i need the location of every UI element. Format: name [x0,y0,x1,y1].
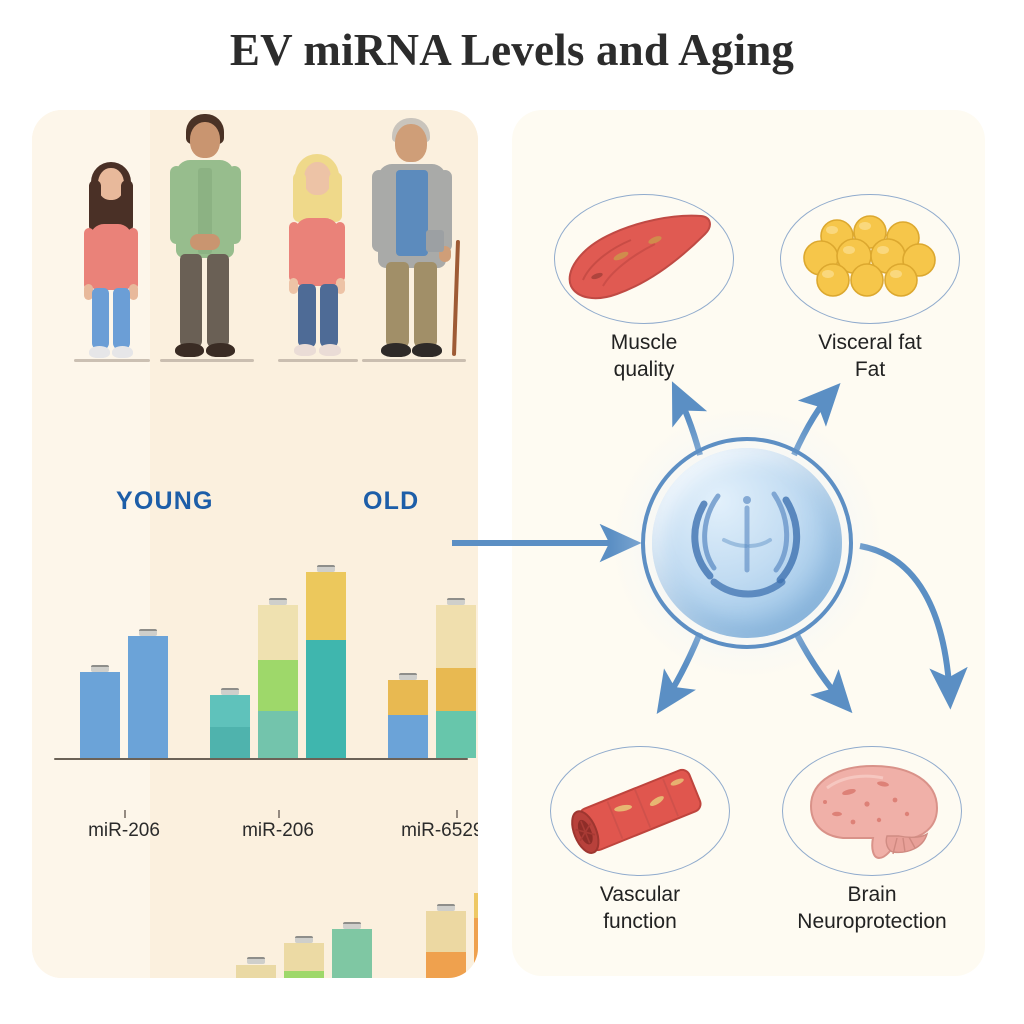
ground-line-1 [74,359,150,362]
bar-segment [258,660,298,711]
ground-line-2 [160,359,254,362]
fat-label-line2: Fat [770,357,970,384]
page-title: EV miRNA Levels and Aging [0,24,1024,76]
walking-cane-icon [452,240,460,356]
bar [284,943,324,978]
legs-right [320,284,338,348]
legs-left [180,254,202,348]
category-label: miR-206 [242,820,314,842]
infographic-canvas: EV miRNA Levels and Aging [0,0,1024,1024]
legs-left [386,262,409,348]
age-label-young: YOUNG [116,487,214,516]
vascular-label-line2: function [540,909,740,936]
bar [306,572,346,758]
shoe-right [112,346,133,358]
people-illustration-group [32,110,478,378]
error-bar-cap [139,629,157,636]
shoe-left [175,343,204,357]
bar [128,636,168,758]
axis-tick [456,810,458,818]
bar-segment [306,640,346,758]
hair-right [329,172,342,222]
shoe-right [206,343,235,357]
shoe-right [412,343,442,357]
ground-line-4 [362,359,466,362]
hand-left [289,278,298,294]
error-bar-cap [269,598,287,605]
muscle-label-line2: quality [544,357,744,384]
torso-top [295,218,339,286]
person-young-woman [74,140,148,360]
bar-segment [284,943,324,971]
head [304,162,331,195]
bar [80,672,120,758]
pocket [426,230,444,252]
bar [258,605,298,758]
bar-segment [436,605,476,668]
bar [388,680,428,758]
arm-right [128,228,138,290]
bar-segment [128,636,168,758]
vascular-label: Vascular function [540,882,740,936]
bar-segment [284,971,324,978]
error-bar-cap [247,957,265,964]
arm-right [335,222,345,282]
chart-lower-stacked-bar [46,870,476,978]
shoe-left [381,343,411,357]
ground-line-3 [278,359,358,362]
chart-upper-stacked-bar: miR-206miR-206miR-6529-5p [46,562,476,808]
person-old-woman [280,136,356,360]
error-bar-cap [221,688,239,695]
chart-bars-area-lower [46,874,476,978]
person-old-man [366,112,462,360]
category-label: miR-6529-5p [401,820,478,842]
bar-segment [210,695,250,726]
blood-vessel-icon [555,758,725,862]
bar [210,695,250,758]
bar-segment [80,672,120,758]
brain-label: Brain Neuroprotection [772,882,972,936]
chart-bars-area [46,562,476,758]
brain-label-line2: Neuroprotection [772,909,972,936]
error-bar-cap [437,904,455,911]
category-label: miR-206 [88,820,160,842]
bar [474,893,478,978]
shoe-right [319,344,341,356]
vascular-label-line1: Vascular [540,882,740,909]
bar-segment [258,605,298,660]
hair-left [293,172,306,222]
error-bar-cap [399,673,417,680]
adipocyte-icon [785,206,955,310]
bar-segment [388,715,428,758]
bar-segment [258,711,298,758]
bar-segment [332,929,372,978]
muscle-label-line1: Muscle [544,330,744,357]
error-bar-cap [447,598,465,605]
bar-segment [426,952,466,978]
bar-segment [236,965,276,979]
bar-segment [306,572,346,641]
vesicle-body [652,448,842,638]
bar-segment [474,893,478,918]
legs [92,288,109,350]
brain-icon [787,758,957,862]
legs-right [414,262,437,348]
error-bar-cap [343,922,361,929]
arm-left [372,170,386,252]
head [395,124,427,162]
bar [236,964,276,978]
vest-front [396,170,428,256]
bar [332,929,372,978]
bar-segment [388,680,428,715]
bar [426,911,466,978]
age-label-old: OLD [363,487,419,516]
legs-left [298,284,316,348]
bar-segment [474,918,478,978]
left-panel-young-vs-old: YOUNG OLD miR-206miR-206miR-6529-5p miRN… [32,110,478,978]
fat-label-line1: Visceral fat [770,330,970,357]
error-bar-cap [317,565,335,572]
legs-right [207,254,229,348]
torso-top [90,224,132,290]
fat-label: Visceral fat Fat [770,330,970,384]
muscle-icon [559,206,729,310]
bar-segment [436,668,476,711]
axis-tick [278,810,280,818]
arm-right [228,166,241,244]
mirna-strands-icon [652,448,842,638]
person-young-man [162,110,248,360]
muscle-label: Muscle quality [544,330,744,384]
axis-tick [124,810,126,818]
error-bar-cap [295,936,313,943]
head [190,122,220,158]
brain-label-line1: Brain [772,882,972,909]
arm-left [170,166,183,244]
legs-2 [113,288,130,350]
bar-segment [436,711,476,758]
arm-left [289,222,299,282]
error-bar-cap [91,665,109,672]
shoe-left [294,344,316,356]
arm-left [84,228,94,290]
bar-segment [426,911,466,952]
hand-right [129,284,138,300]
bar [436,605,476,758]
shoe-left [89,346,110,358]
bar-segment [210,727,250,758]
hands-clasped [190,234,220,250]
extracellular-vesicle-icon [641,437,853,649]
